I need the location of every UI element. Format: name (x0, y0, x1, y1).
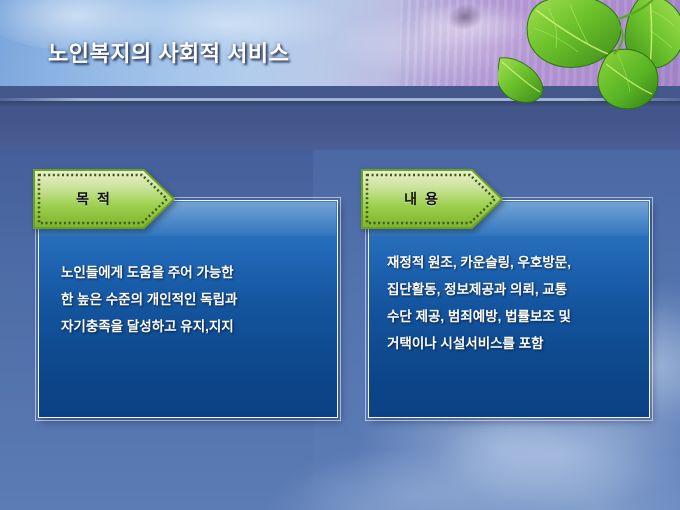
leaf-decoration (498, 0, 680, 114)
leaf-shape-lower (598, 49, 658, 108)
presentation-slide: 노인복지의 사회적 서비스 (0, 0, 680, 510)
banner-chevron-purpose: 목 적 (32, 168, 177, 230)
content-line: 자기충족을 달성하고 유지,지지 (61, 313, 323, 340)
content-box-purpose: 노인들에게 도움을 주어 가능한 한 높은 수준의 개인적인 독립과 자기충족을… (38, 200, 338, 418)
content-box-content: 재정적 원조, 카운슬링, 우호방문, 집단활동, 정보제공과 의뢰, 교통 수… (368, 200, 650, 418)
slide-title: 노인복지의 사회적 서비스 (48, 36, 289, 68)
leaf-shape-small-left (498, 58, 543, 103)
content-line: 노인들에게 도움을 주어 가능한 (61, 259, 323, 286)
content-line: 수단 제공, 범죄예방, 법률보조 및 (387, 303, 635, 330)
content-line: 한 높은 수준의 개인적인 독립과 (61, 286, 323, 313)
content-line: 거택이나 시설서비스를 포함 (387, 330, 635, 357)
content-line: 재정적 원조, 카운슬링, 우호방문, (387, 249, 635, 276)
content-text-content: 재정적 원조, 카운슬링, 우호방문, 집단활동, 정보제공과 의뢰, 교통 수… (387, 249, 635, 357)
banner-chevron-content: 내 용 (360, 168, 505, 230)
banner-label-content: 내 용 (360, 168, 484, 230)
banner-label-purpose: 목 적 (32, 168, 156, 230)
content-line: 집단활동, 정보제공과 의뢰, 교통 (387, 276, 635, 303)
content-text-purpose: 노인들에게 도움을 주어 가능한 한 높은 수준의 개인적인 독립과 자기충족을… (61, 259, 323, 340)
header-divider-base (0, 108, 680, 150)
